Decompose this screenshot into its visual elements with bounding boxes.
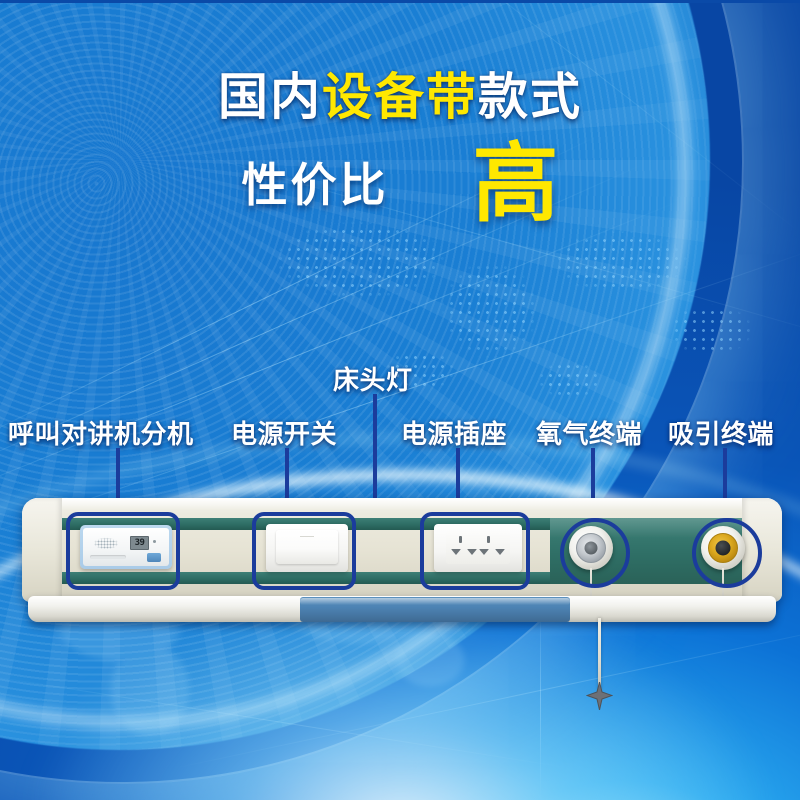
highlight-circle-oxygen: [560, 518, 630, 588]
highlight-box-socket: [420, 512, 530, 590]
highlight-box-intercom: [66, 512, 180, 590]
callout-label-bedlamp: 床头灯: [333, 360, 413, 397]
headline-part-2: 设备带: [322, 72, 478, 122]
callout-label-switch: 电源开关: [231, 414, 337, 451]
headline-emphasis: 高: [473, 144, 559, 226]
pull-cord[interactable]: [598, 618, 601, 690]
headline-part-3: 款式: [478, 72, 582, 122]
product-banner: 国内设备带款式 性价比 高 呼叫对讲机分机 电源开关 床头灯 电源插座 氧气终端…: [0, 0, 800, 800]
headline-subtitle: 性价比: [242, 162, 389, 208]
rail-glass-highlight: [300, 598, 570, 605]
panel-top-highlight: [22, 498, 782, 510]
vertical-light-line: [540, 600, 541, 800]
highlight-box-switch: [252, 512, 356, 590]
pull-cord-weight-icon: [586, 682, 613, 710]
top-edge-bar: [0, 0, 800, 3]
callout-label-oxygen: 氧气终端: [536, 414, 642, 451]
panel-end-cap-left: [22, 498, 62, 602]
callout-label-socket: 电源插座: [401, 414, 507, 451]
headline-block: 国内设备带款式 性价比 高: [0, 72, 800, 226]
headline-line-1: 国内设备带款式: [0, 72, 800, 122]
callout-label-suction: 吸引终端: [668, 414, 774, 451]
headline-part-1: 国内: [218, 72, 322, 122]
callout-label-intercom: 呼叫对讲机分机: [8, 414, 194, 451]
highlight-circle-suction: [692, 518, 762, 588]
headline-line-2: 性价比 高: [0, 144, 800, 226]
